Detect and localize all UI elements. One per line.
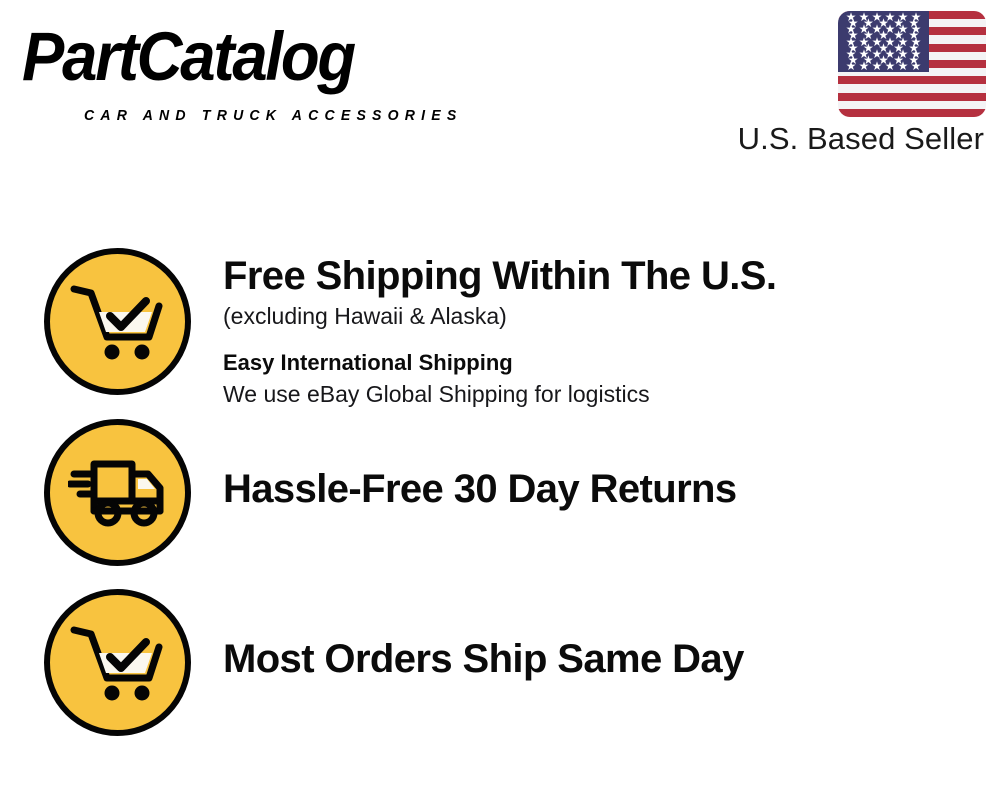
feature-text-block: Hassle-Free 30 Day Returns	[223, 419, 1000, 513]
banner-header: PartCatalog CAR AND TRUCK ACCESSORIES ★★…	[0, 0, 1000, 175]
delivery-truck-icon	[44, 419, 191, 566]
us-based-seller-badge: ★★★★★★★★★★★★★★★★★★★★★★★★★★★★★★★★★★★★★★★★…	[714, 8, 986, 158]
brand-tagline: CAR AND TRUCK ACCESSORIES	[84, 108, 462, 124]
us-based-seller-label: U.S. Based Seller	[738, 120, 984, 158]
feature-heading: Most Orders Ship Same Day	[223, 635, 1000, 683]
promo-banner: PartCatalog CAR AND TRUCK ACCESSORIES ★★…	[0, 0, 1000, 800]
brand-wordmark: PartCatalog	[22, 20, 354, 94]
shopping-cart-check-icon	[44, 248, 191, 395]
feature-heading: Hassle-Free 30 Day Returns	[223, 465, 1000, 513]
flag-star: ★	[911, 60, 922, 72]
flag-star: ★	[859, 60, 870, 72]
flag-star: ★	[846, 60, 857, 72]
shopping-cart-check-icon	[44, 589, 191, 736]
flag-star: ★	[898, 60, 909, 72]
feature-subtext-extra: We use eBay Global Shipping for logistic…	[223, 378, 1000, 410]
feature-subtext-strong: Easy International Shipping	[223, 347, 1000, 378]
feature-subtext: (excluding Hawaii & Alaska)	[223, 300, 1000, 332]
us-flag-icon: ★★★★★★★★★★★★★★★★★★★★★★★★★★★★★★★★★★★★★★★★…	[838, 11, 986, 117]
flag-stars: ★★★★★★★★★★★★★★★★★★★★★★★★★★★★★★★★★★★★★★★★…	[838, 11, 986, 117]
feature-row: Hassle-Free 30 Day Returns	[0, 419, 1000, 574]
feature-heading: Free Shipping Within The U.S.	[223, 252, 1000, 300]
flag-star: ★	[872, 60, 883, 72]
feature-list: Free Shipping Within The U.S. (excluding…	[0, 175, 1000, 800]
flag-star: ★	[885, 60, 896, 72]
feature-row: Free Shipping Within The U.S. (excluding…	[0, 248, 1000, 408]
feature-row: Most Orders Ship Same Day	[0, 589, 1000, 744]
feature-text-block: Most Orders Ship Same Day	[223, 589, 1000, 683]
feature-text-block: Free Shipping Within The U.S. (excluding…	[223, 248, 1000, 410]
brand-logo: PartCatalog CAR AND TRUCK ACCESSORIES	[22, 20, 492, 120]
